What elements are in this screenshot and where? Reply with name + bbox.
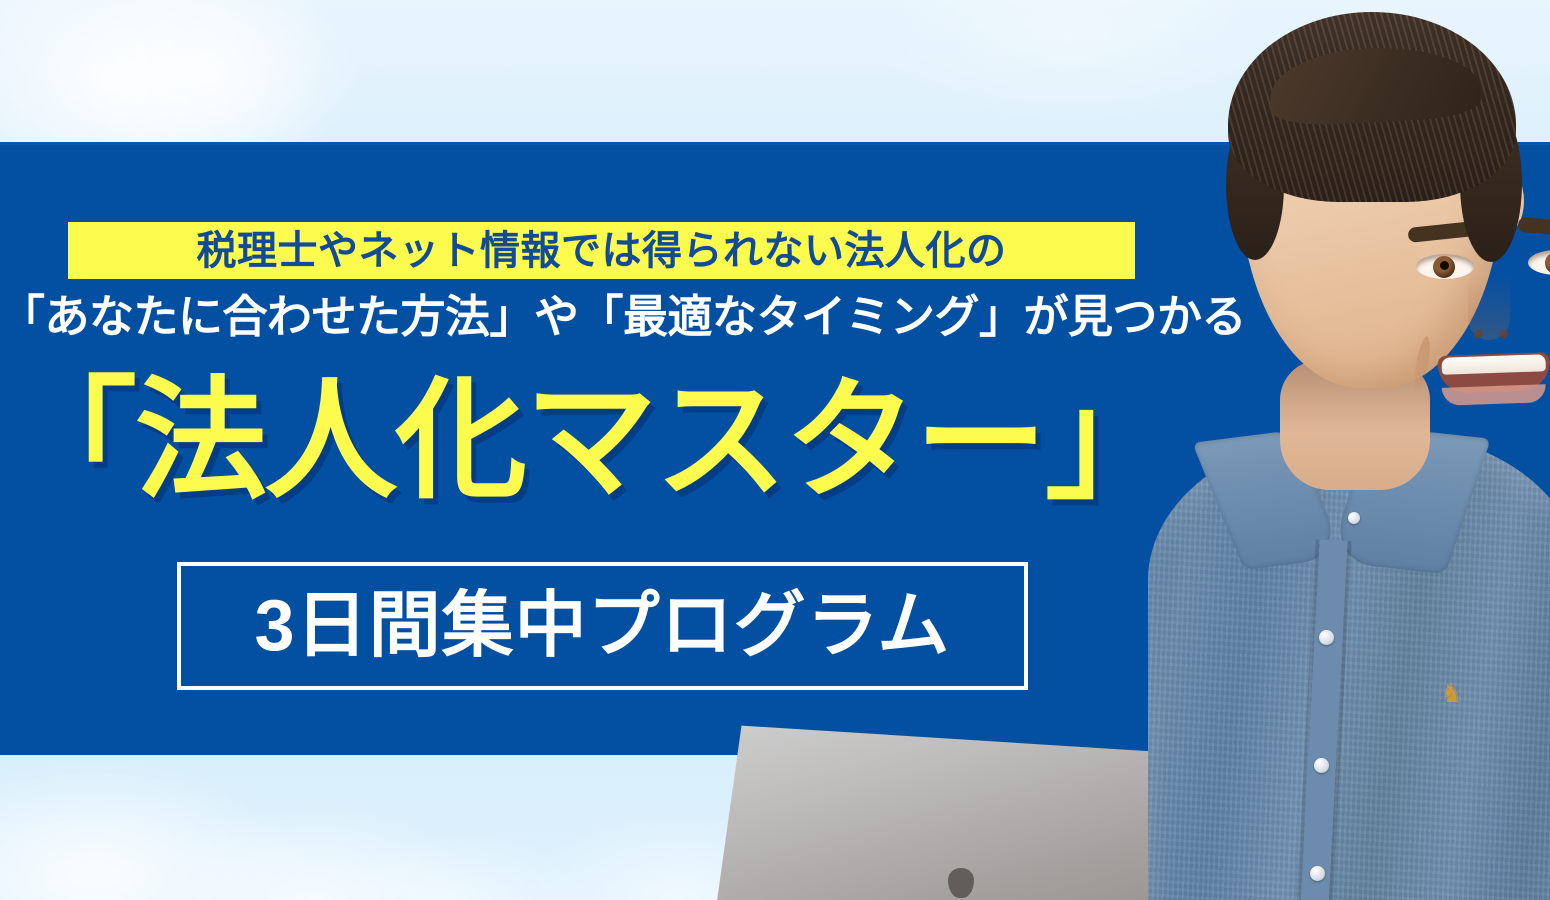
program-badge: 3日間集中プログラム <box>177 562 1028 690</box>
teeth <box>1441 354 1546 375</box>
page-title: 「法人化マスター」 <box>0 370 1180 513</box>
shirt-button <box>1348 512 1360 524</box>
nostrils <box>1470 328 1512 340</box>
eye-right <box>1528 250 1550 275</box>
headline-copy-block: 税理士やネット情報では得られない法人化の 「あなたに合わせた方法」や「最適なタイ… <box>0 142 1180 755</box>
program-badge-label: 3日間集中プログラム <box>255 590 951 662</box>
smile-line-left <box>1411 335 1433 394</box>
shirt-button <box>1314 758 1329 773</box>
polo-pony-icon: ♞ <box>1441 680 1462 706</box>
apple-logo-icon <box>948 868 974 898</box>
eyebrow-right <box>1517 217 1550 239</box>
headline-line2-text: 「あなたに合わせた方法」や「最適なタイミング」が見つかる <box>0 294 1180 339</box>
lower-lip <box>1442 384 1547 406</box>
presenter-photo: ♞ <box>1120 0 1550 900</box>
shirt-button <box>1310 866 1325 881</box>
headline-line1-text: 税理士やネット情報では得られない法人化の <box>197 231 1007 271</box>
pupil-left <box>1440 261 1449 270</box>
eye-left <box>1416 254 1474 279</box>
hero-banner: 税理士やネット情報では得られない法人化の 「あなたに合わせた方法」や「最適なタイ… <box>0 0 1550 900</box>
iris-right <box>1545 252 1550 274</box>
shirt-button <box>1319 630 1334 645</box>
headline-line1-highlight: 税理士やネット情報では得られない法人化の <box>68 222 1135 279</box>
program-badge-inner: 3日間集中プログラム <box>181 566 1024 686</box>
